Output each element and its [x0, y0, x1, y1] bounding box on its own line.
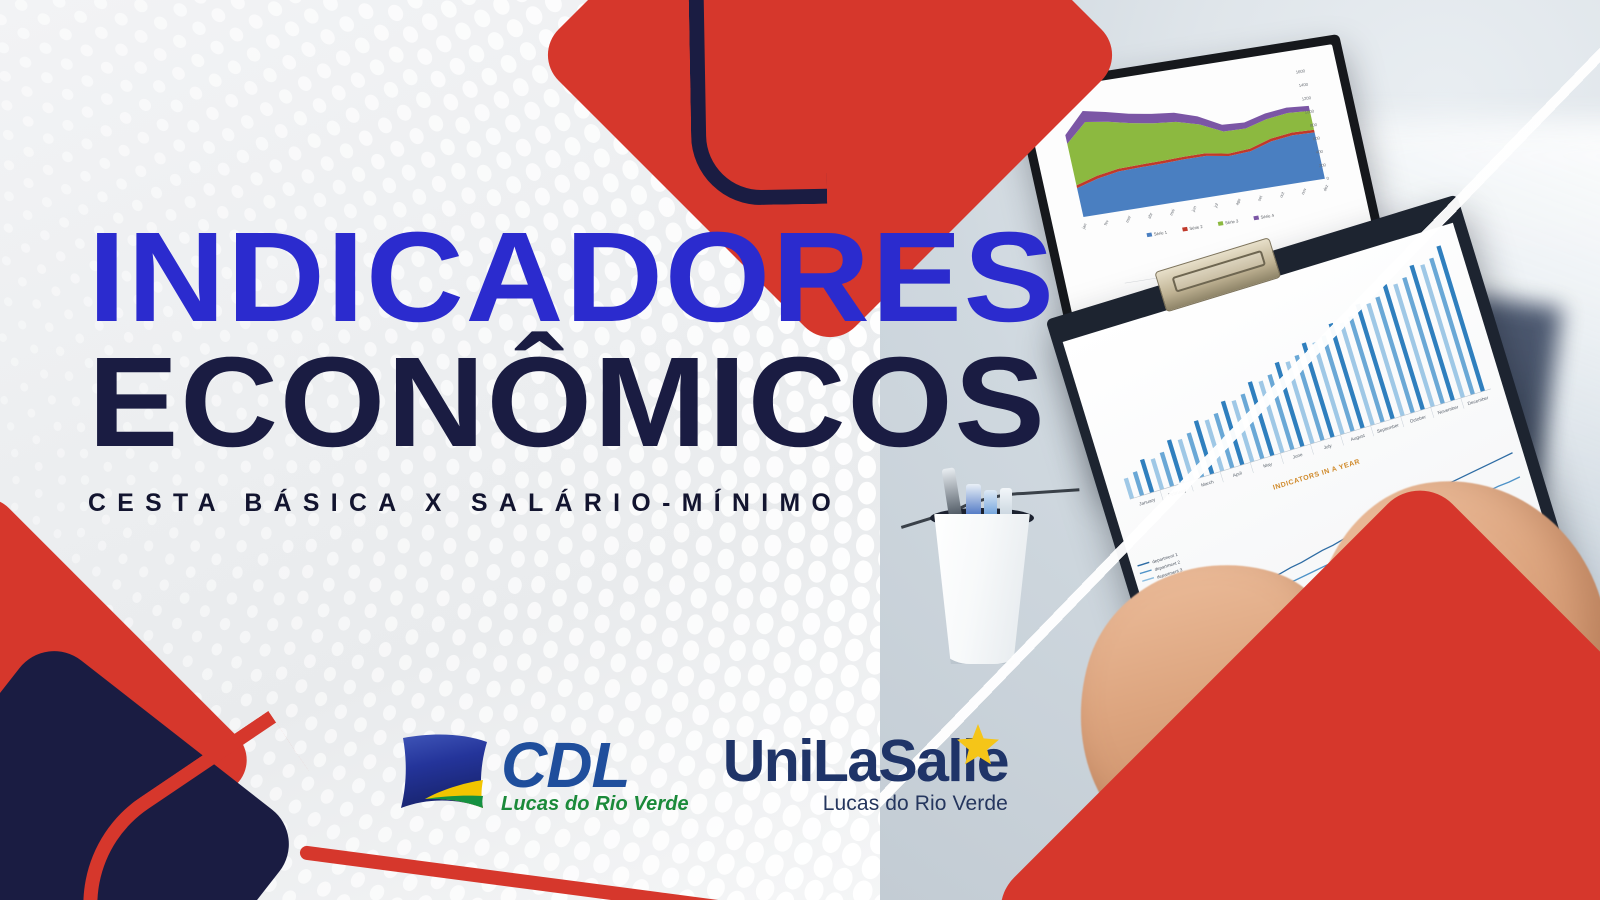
unilasalle-logo[interactable]: UniLaSalle Lucas do Rio Verde — [723, 736, 1008, 820]
page-subtitle: CESTA BÁSICA X SALÁRIO-MÍNIMO — [88, 489, 900, 518]
cdl-tagline: Lucas do Rio Verde — [501, 793, 689, 816]
cdl-name: CDL — [501, 739, 689, 791]
star-icon — [956, 722, 1000, 766]
page-title-line1: INDICADORES — [88, 222, 957, 335]
cdl-wordmark: CDL Lucas do Rio Verde — [501, 739, 689, 820]
navy-hook-line — [688, 0, 828, 206]
cdl-logo[interactable]: CDL Lucas do Rio Verde — [395, 728, 689, 820]
cdl-flag-mark — [395, 728, 495, 820]
unilasalle-tagline: Lucas do Rio Verde — [723, 792, 1008, 816]
logo-row: CDL Lucas do Rio Verde UniLaSalle Lucas … — [395, 728, 1008, 820]
headline-block: INDICADORES ECONÔMICOS CESTA BÁSICA X SA… — [88, 222, 908, 518]
page-title-line2: ECONÔMICOS — [88, 347, 957, 460]
banner-canvas: 02004006008001000120014001600janfevmarab… — [0, 0, 1600, 900]
